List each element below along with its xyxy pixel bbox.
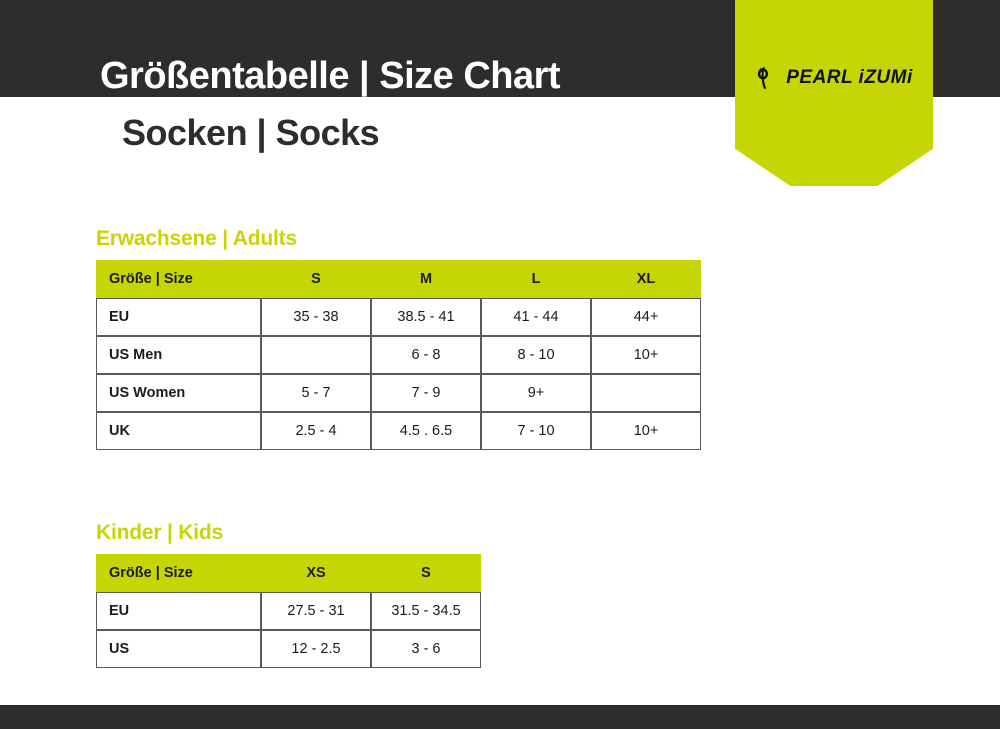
brand-banner: PEARL iZUMi bbox=[735, 0, 933, 186]
table-header-row: Größe | Size XS S bbox=[96, 554, 481, 592]
pearl-izumi-p-icon bbox=[755, 66, 781, 90]
table-row: US Men 6 - 8 8 - 10 10+ bbox=[96, 336, 701, 374]
section-heading-kids: Kinder | Kids bbox=[96, 521, 481, 545]
section-heading-adults: Erwachsene | Adults bbox=[96, 227, 701, 251]
table-cell: 6 - 8 bbox=[371, 336, 481, 374]
table-cell: 7 - 10 bbox=[481, 412, 591, 450]
table-cell: 41 - 44 bbox=[481, 298, 591, 336]
table-row: US Women 5 - 7 7 - 9 9+ bbox=[96, 374, 701, 412]
table-cell bbox=[591, 374, 701, 412]
table-cell: 35 - 38 bbox=[261, 298, 371, 336]
row-label: UK bbox=[96, 412, 261, 450]
table-cell: 4.5 . 6.5 bbox=[371, 412, 481, 450]
column-header-s: S bbox=[371, 554, 481, 592]
table-cell: 31.5 - 34.5 bbox=[371, 592, 481, 630]
column-header-xs: XS bbox=[261, 554, 371, 592]
column-header-m: M bbox=[371, 260, 481, 298]
table-cell: 2.5 - 4 bbox=[261, 412, 371, 450]
size-table-adults: Größe | Size S M L XL EU 35 - 38 38.5 - … bbox=[96, 260, 701, 450]
brand-logo: PEARL iZUMi bbox=[755, 66, 913, 90]
table-cell: 10+ bbox=[591, 336, 701, 374]
column-header-size: Größe | Size bbox=[96, 554, 261, 592]
section-kids: Kinder | Kids Größe | Size XS S EU 27.5 … bbox=[96, 521, 481, 668]
table-cell: 5 - 7 bbox=[261, 374, 371, 412]
column-header-s: S bbox=[261, 260, 371, 298]
table-cell: 12 - 2.5 bbox=[261, 630, 371, 668]
table-cell: 8 - 10 bbox=[481, 336, 591, 374]
table-row: EU 27.5 - 31 31.5 - 34.5 bbox=[96, 592, 481, 630]
row-label: US bbox=[96, 630, 261, 668]
size-table-kids: Größe | Size XS S EU 27.5 - 31 31.5 - 34… bbox=[96, 554, 481, 668]
row-label: EU bbox=[96, 592, 261, 630]
table-row: UK 2.5 - 4 4.5 . 6.5 7 - 10 10+ bbox=[96, 412, 701, 450]
row-label: US Men bbox=[96, 336, 261, 374]
table-row: EU 35 - 38 38.5 - 41 41 - 44 44+ bbox=[96, 298, 701, 336]
section-adults: Erwachsene | Adults Größe | Size S M L X… bbox=[96, 227, 701, 450]
footer-bar bbox=[0, 705, 1000, 729]
table-cell: 7 - 9 bbox=[371, 374, 481, 412]
table-cell bbox=[261, 336, 371, 374]
column-header-l: L bbox=[481, 260, 591, 298]
page-title: Größentabelle | Size Chart bbox=[100, 55, 560, 98]
page-subtitle: Socken | Socks bbox=[122, 112, 379, 154]
table-cell: 10+ bbox=[591, 412, 701, 450]
row-label: US Women bbox=[96, 374, 261, 412]
table-cell: 9+ bbox=[481, 374, 591, 412]
brand-wordmark: PEARL iZUMi bbox=[786, 67, 913, 89]
table-cell: 38.5 - 41 bbox=[371, 298, 481, 336]
table-header-row: Größe | Size S M L XL bbox=[96, 260, 701, 298]
table-row: US 12 - 2.5 3 - 6 bbox=[96, 630, 481, 668]
table-cell: 3 - 6 bbox=[371, 630, 481, 668]
column-header-size: Größe | Size bbox=[96, 260, 261, 298]
row-label: EU bbox=[96, 298, 261, 336]
column-header-xl: XL bbox=[591, 260, 701, 298]
table-cell: 27.5 - 31 bbox=[261, 592, 371, 630]
table-cell: 44+ bbox=[591, 298, 701, 336]
